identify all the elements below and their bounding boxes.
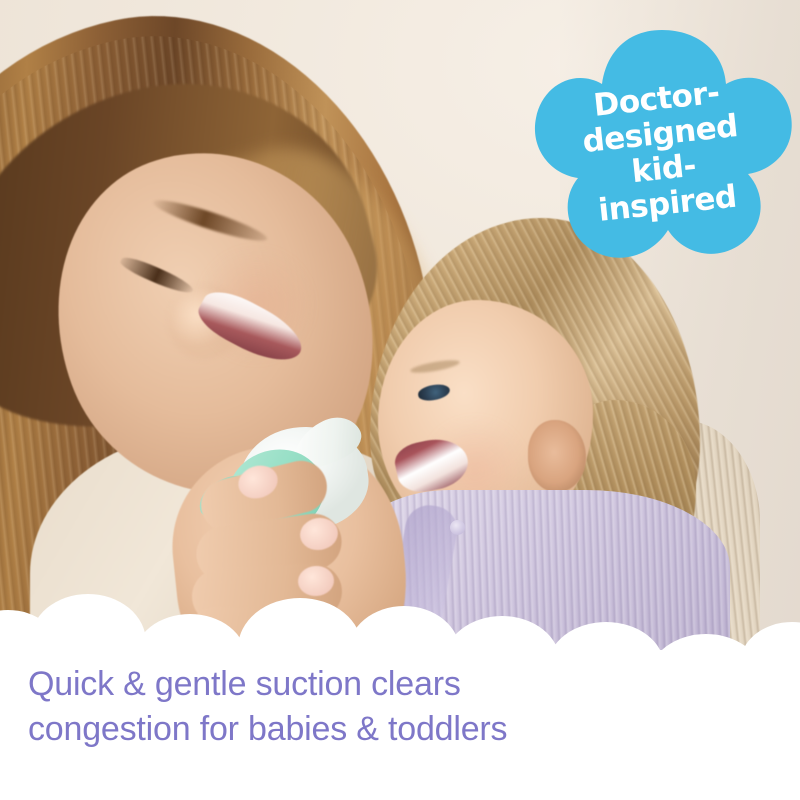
scalloped-footer: Quick & gentle suction clears congestion… (0, 590, 800, 800)
toddler-shirt-button (450, 520, 465, 535)
toddler-ear (528, 420, 586, 492)
badge-text-block: Doctor- designed kid- inspired (521, 68, 800, 235)
caption-line-1: Quick & gentle suction clears (28, 662, 728, 707)
doctor-designed-badge: Doctor- designed kid- inspired (528, 28, 796, 278)
caption-block: Quick & gentle suction clears congestion… (28, 662, 728, 752)
product-lifestyle-image: Doctor- designed kid- inspired Quick & g… (0, 0, 800, 800)
caption-line-2: congestion for babies & toddlers (28, 707, 728, 752)
